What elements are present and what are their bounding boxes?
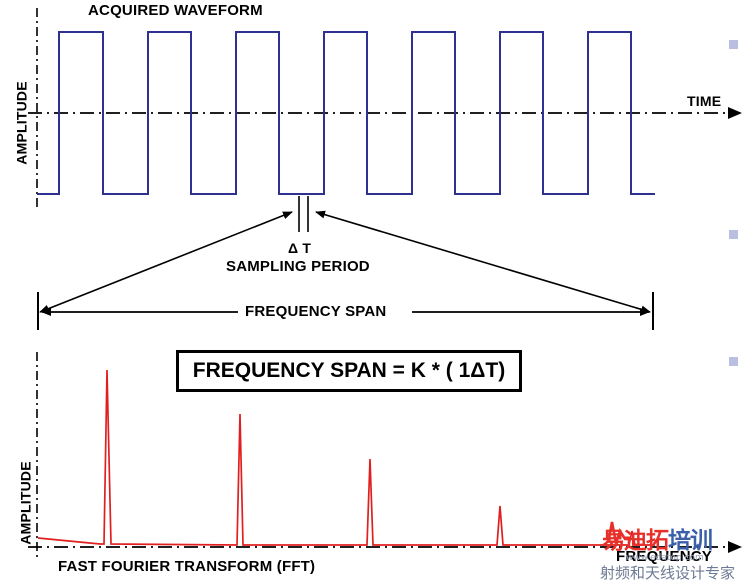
decoration-square — [729, 40, 738, 49]
figure-canvas: ACQUIRED WAVEFORM AMPLITUDE TIME Δ T SAM… — [0, 0, 754, 584]
annotation-sampling-period: SAMPLING PERIOD — [226, 258, 370, 275]
fft-spectrum-trace — [38, 370, 655, 545]
frequency-axis-arrowhead — [728, 541, 742, 553]
formula-text: FREQUENCY SPAN = K * ( 1ΔT) — [193, 359, 505, 383]
axis-label-amplitude-top: AMPLITUDE — [14, 81, 30, 164]
decoration-square — [729, 357, 738, 366]
time-axis-arrowhead — [728, 107, 742, 119]
caption-fft: FAST FOURIER TRANSFORM (FFT) — [58, 558, 315, 575]
axis-label-frequency: FREQUENCY — [616, 548, 712, 565]
delta-t-marker — [299, 196, 308, 232]
axis-label-amplitude-bottom: AMPLITUDE — [18, 461, 34, 544]
page-title: ACQUIRED WAVEFORM — [88, 2, 263, 19]
formula-box: FREQUENCY SPAN = K * ( 1ΔT) — [176, 350, 522, 392]
time-axis — [28, 107, 742, 119]
diagram-svg — [0, 0, 754, 584]
axis-label-time: TIME — [687, 93, 721, 109]
decoration-square — [729, 230, 738, 239]
annotation-delta-t: Δ T — [288, 240, 311, 256]
annotation-frequency-span: FREQUENCY SPAN — [240, 303, 391, 320]
